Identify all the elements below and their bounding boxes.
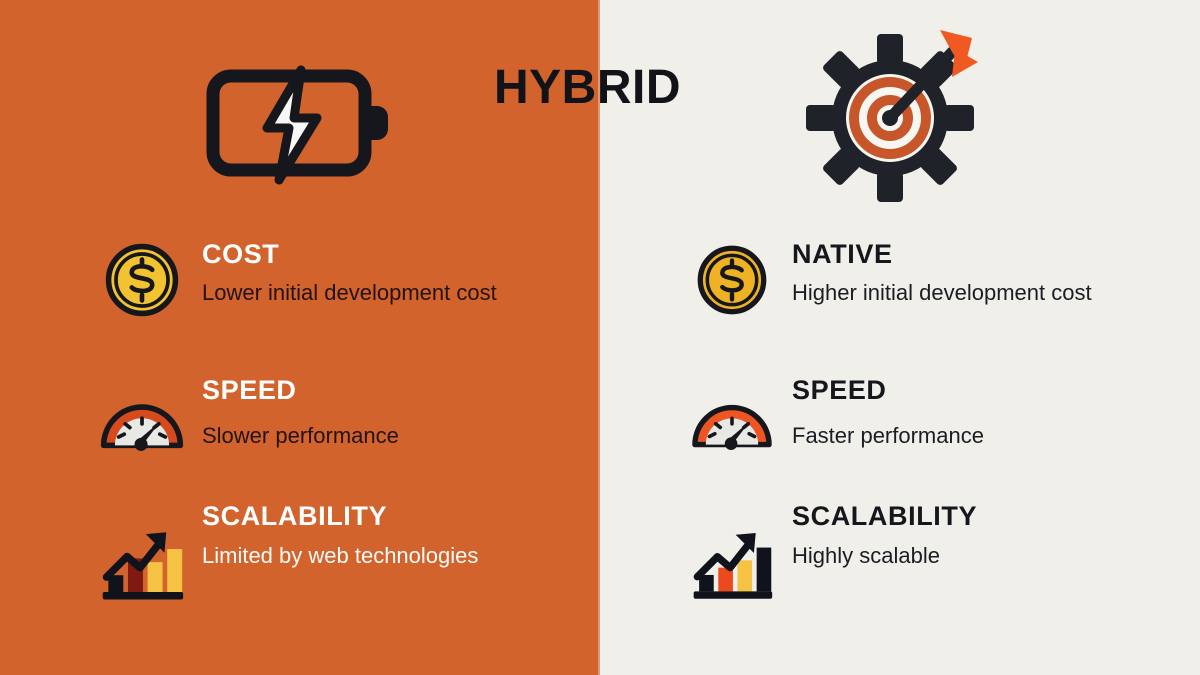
speedometer-icon: [100, 380, 184, 464]
feature-body: Highly scalable: [792, 542, 1152, 570]
feature-body: Limited by web technologies: [202, 542, 542, 570]
feature-heading: COST: [202, 240, 590, 270]
feature-text: SCALABILITY Highly scalable: [792, 500, 1190, 570]
page-title: HYBRID: [494, 64, 714, 112]
speedometer-icon: [690, 380, 774, 464]
feature-body: Lower initial development cost: [202, 279, 542, 307]
feature-text: SPEED Slower performance: [202, 374, 590, 450]
feature-row-speed: SPEED Faster performance: [690, 374, 1190, 464]
feature-body: Faster performance: [792, 422, 1152, 450]
bar-chart-growth-icon: [690, 522, 774, 606]
feature-heading: NATIVE: [792, 240, 1190, 270]
feature-heading: SPEED: [202, 376, 590, 406]
feature-row-scalability: SCALABILITY Limited by web technologies: [100, 500, 590, 606]
feature-text: COST Lower initial development cost: [202, 238, 590, 307]
feature-row-scalability: SCALABILITY Highly scalable: [690, 500, 1190, 606]
feature-body: Slower performance: [202, 422, 542, 450]
feature-text: SPEED Faster performance: [792, 374, 1190, 450]
feature-row-speed: SPEED Slower performance: [100, 374, 590, 464]
feature-heading: SPEED: [792, 376, 1190, 406]
infographic-canvas: HYBRID COST Lower initial development co…: [0, 0, 1200, 675]
feature-heading: SCALABILITY: [792, 502, 1190, 532]
bar-chart-growth-icon: [100, 522, 184, 606]
feature-heading: SCALABILITY: [202, 502, 590, 532]
feature-text: NATIVE Higher initial development cost: [792, 238, 1190, 307]
feature-body: Higher initial development cost: [792, 279, 1152, 307]
coin-dollar-icon: [690, 238, 774, 322]
feature-text: SCALABILITY Limited by web technologies: [202, 500, 590, 570]
feature-row-native: NATIVE Higher initial development cost: [690, 238, 1190, 322]
coin-dollar-icon: [100, 238, 184, 322]
feature-row-cost: COST Lower initial development cost: [100, 238, 590, 322]
